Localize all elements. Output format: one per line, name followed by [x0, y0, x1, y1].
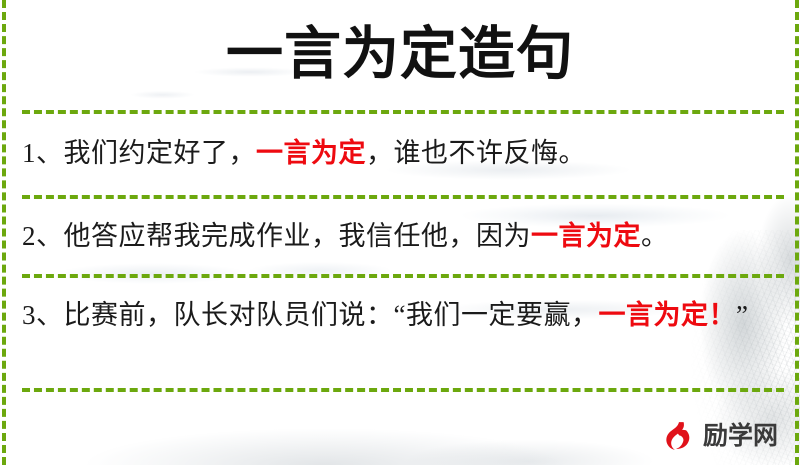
sentence-item-1: 1、我们约定好了，一言为定，谁也不许反悔。: [22, 131, 778, 175]
watermark-brand: 励学网: [703, 424, 778, 449]
sentence-2-tail: 。: [641, 221, 669, 251]
sentence-item-2: 2、他答应帮我完成作业，我信任他，因为一言为定。: [22, 214, 778, 258]
sentence-3-tail: ”: [736, 300, 748, 330]
worksheet-page: 一言为定造句 1、我们约定好了，一言为定，谁也不许反悔。 2、他答应帮我完成作业…: [0, 0, 800, 465]
sentence-1-idiom: 一言为定: [256, 138, 366, 168]
sentence-item-3: 3、比赛前，队长对队员们说：“我们一定要赢，一言为定！”: [22, 293, 778, 337]
sentence-1-tail: ，谁也不许反悔。: [366, 138, 586, 168]
sentence-1-lead: 1、我们约定好了，: [22, 138, 256, 168]
divider-3: [22, 274, 784, 278]
divider-1: [22, 110, 784, 114]
flame-swirl-icon: [663, 420, 696, 453]
sentence-3-idiom: 一言为定！: [598, 300, 736, 330]
divider-2: [22, 195, 784, 199]
divider-4: [22, 388, 784, 392]
site-watermark: 励学网: [663, 417, 778, 455]
page-title: 一言为定造句: [0, 22, 800, 88]
sentence-2-lead: 2、他答应帮我完成作业，我信任他，因为: [22, 221, 531, 251]
sentence-2-idiom: 一言为定: [531, 221, 641, 251]
sentence-3-lead: 3、比赛前，队长对队员们说：“我们一定要赢，: [22, 300, 598, 330]
